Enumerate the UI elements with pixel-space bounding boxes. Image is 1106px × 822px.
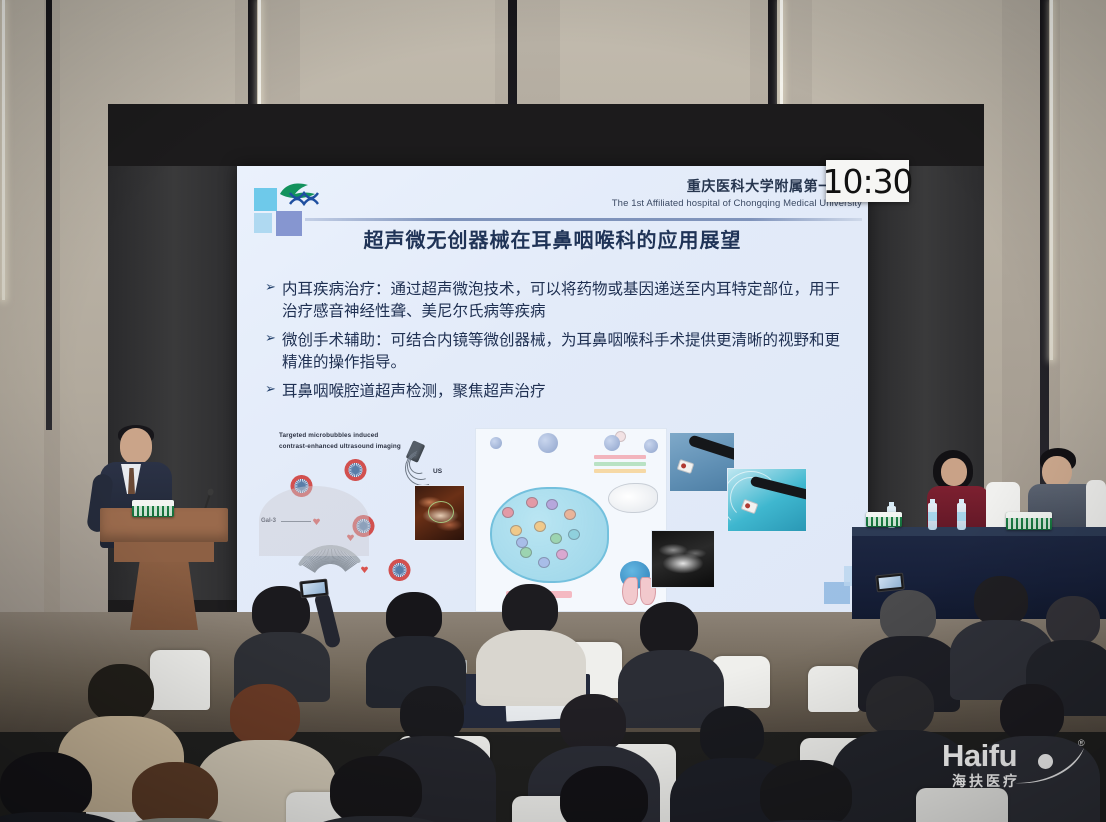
bullet-marker-icon: ➢: [265, 278, 282, 322]
audience-member: [330, 756, 422, 822]
cell-body-shape: [259, 486, 369, 556]
audience-member-photographing: [640, 602, 698, 656]
bullet-text: 微创手术辅助：可结合内镜等微创器械，为耳鼻咽喉科手术提供更清晰的视野和更精准的操…: [282, 329, 850, 373]
pathway-node: [502, 507, 514, 518]
mouse-illustration: [608, 483, 658, 513]
head: [941, 458, 967, 486]
header-divider: [305, 218, 862, 221]
chair: [150, 650, 210, 710]
audience-member: [760, 760, 852, 822]
pathway-node: [526, 497, 538, 508]
clock-time: 10:30: [822, 162, 912, 201]
legend-swatch: [594, 462, 646, 466]
pathway-node: [564, 509, 576, 520]
bullet-marker-icon: ➢: [265, 329, 282, 373]
water-bottle: [957, 503, 966, 530]
wall-clock: 10:30: [826, 160, 909, 202]
chair: [808, 666, 860, 712]
registered-mark: ®: [1078, 738, 1085, 748]
panel-name-plate: [866, 512, 902, 527]
endoscope-photo: [727, 468, 807, 532]
brand-name-chinese: 海扶医疗: [952, 771, 1020, 791]
audience: [0, 556, 1106, 822]
pathway-node: [568, 529, 580, 540]
audience-member: [88, 664, 154, 722]
audience-member: [866, 676, 934, 736]
haifu-watermark-logo: Haifu ® 海扶医疗: [942, 734, 1092, 796]
molecule-illustration: [538, 433, 558, 453]
legend-swatch: [594, 455, 646, 459]
smartphone[interactable]: [875, 573, 905, 593]
slide-title: 超声微无创器械在耳鼻咽喉科的应用展望: [237, 224, 868, 253]
audience-member: [974, 576, 1028, 626]
audience-member: [0, 752, 92, 822]
audience-member: [386, 592, 442, 642]
molecule-illustration: [490, 437, 502, 449]
legend-swatch: [594, 469, 646, 473]
projection-screen: 重庆医科大学附属第一医院 The 1st Affiliated hospital…: [237, 166, 868, 615]
molecule-illustration: [644, 439, 658, 453]
audience-member: [1046, 596, 1100, 646]
head: [120, 428, 152, 464]
contrast-ultrasound-inset-image: [414, 485, 465, 541]
pathway-node: [516, 537, 528, 548]
audience-member: [400, 686, 464, 742]
figure-caption: Targeted microbubbles induced contrast-e…: [279, 430, 401, 452]
bullet-text: 内耳疾病治疗：通过超声微泡技术，可以将药物或基因递送至内耳特定部位，用于治疗感音…: [282, 278, 850, 322]
stage-backdrop-top: [108, 104, 984, 166]
audience-member: [502, 584, 558, 636]
pathway-node: [550, 533, 562, 544]
smartphone[interactable]: [299, 579, 329, 599]
pathway-node: [510, 525, 522, 536]
panel-name-plate: [1006, 512, 1052, 530]
list-item: ➢ 内耳疾病治疗：通过超声微泡技术，可以将药物或基因递送至内耳特定部位，用于治疗…: [265, 278, 850, 322]
bullet-marker-icon: ➢: [265, 380, 282, 402]
wall-light-strip: [1050, 0, 1053, 360]
microbubble-icon: [335, 450, 375, 490]
presentation-slide: 重庆医科大学附属第一医院 The 1st Affiliated hospital…: [237, 166, 868, 615]
water-bottle: [928, 503, 937, 530]
audience-member: [132, 762, 218, 822]
wall-light-strip: [2, 0, 5, 300]
speaker-name-plate: [132, 500, 174, 517]
endoscope-photo: [669, 432, 735, 492]
audience-member: [560, 766, 648, 822]
molecule-illustration: [604, 435, 620, 451]
audience-member: [230, 684, 300, 746]
pathway-node: [546, 499, 558, 510]
list-item: ➢ 耳鼻咽喉腔道超声检测，聚焦超声治疗: [265, 380, 850, 402]
figure-caption-line1: Targeted microbubbles induced: [279, 430, 401, 441]
bullet-text: 耳鼻咽喉腔道超声检测，聚焦超声治疗: [282, 380, 850, 402]
audience-member-photographing: [880, 590, 936, 642]
pathway-node: [534, 521, 546, 532]
probe-label: US: [433, 468, 442, 475]
audience-member: [560, 694, 626, 752]
audience-member: [700, 706, 764, 764]
list-item: ➢ 微创手术辅助：可结合内镜等微创器械，为耳鼻咽喉科手术提供更清晰的视野和更精准…: [265, 329, 850, 373]
slide-bullet-list: ➢ 内耳疾病治疗：通过超声微泡技术，可以将药物或基因递送至内耳特定部位，用于治疗…: [265, 278, 850, 409]
conference-photo: 重庆医科大学附属第一医院 The 1st Affiliated hospital…: [0, 0, 1106, 822]
panel-table-surface: [852, 527, 1106, 536]
